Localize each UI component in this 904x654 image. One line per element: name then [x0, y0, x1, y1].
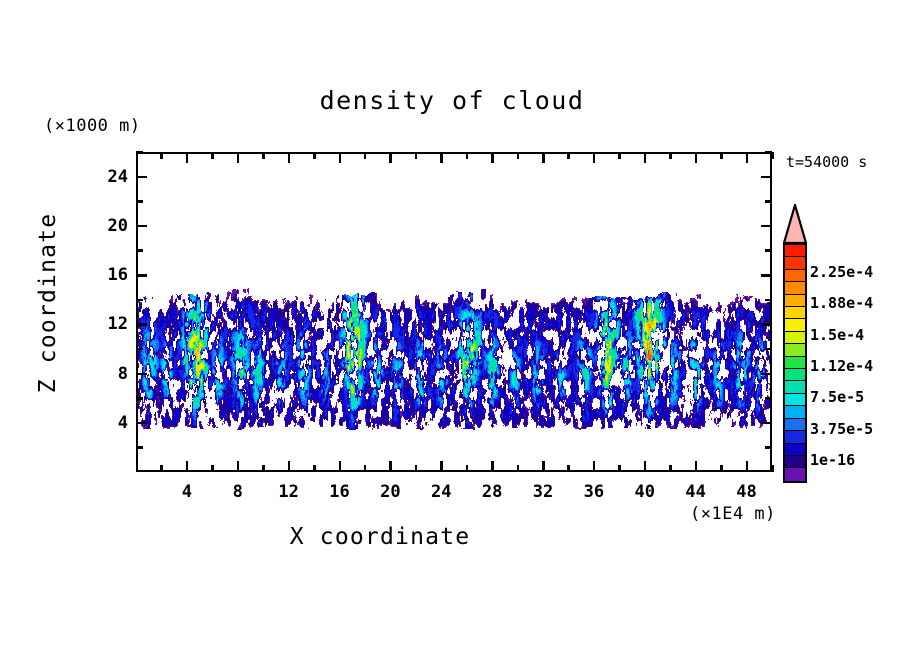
y-tick-label: 8 — [88, 366, 128, 383]
y-tick-label: 16 — [88, 267, 128, 284]
colorbar-band — [785, 357, 805, 369]
x-tick-mark — [644, 461, 647, 472]
x-minor-tick — [364, 152, 367, 159]
colorbar-band — [785, 419, 805, 431]
y-tick-mark — [136, 176, 147, 179]
colorbar-tick-label: 1e-16 — [810, 453, 855, 468]
x-minor-tick — [313, 152, 316, 159]
x-tick-label: 24 — [421, 484, 461, 501]
page-title: density of cloud — [0, 86, 904, 115]
x-minor-tick — [466, 465, 469, 472]
colorbar-band-stack — [783, 243, 807, 483]
time-annotation: t=54000 s — [786, 153, 867, 171]
x-tick-mark — [491, 461, 494, 472]
colorbar-band — [785, 295, 805, 307]
colorbar-tick-label: 1.88e-4 — [810, 296, 873, 311]
colorbar-band — [785, 245, 805, 257]
x-minor-tick — [211, 152, 214, 159]
x-minor-tick — [567, 152, 570, 159]
colorbar-band — [785, 394, 805, 406]
x-tick-label: 28 — [472, 484, 512, 501]
x-minor-tick — [669, 465, 672, 472]
colorbar-band — [785, 456, 805, 468]
x-minor-tick — [160, 465, 163, 472]
x-tick-mark — [237, 461, 240, 472]
x-minor-tick — [669, 152, 672, 159]
colorbar-band — [785, 431, 805, 443]
x-tick-label: 16 — [320, 484, 360, 501]
x-tick-mark — [389, 461, 392, 472]
y-minor-tick — [765, 200, 772, 203]
colorbar-tick-label: 2.25e-4 — [810, 265, 873, 280]
y-tick-label: 12 — [88, 316, 128, 333]
y-tick-mark — [761, 323, 772, 326]
x-minor-tick — [517, 465, 520, 472]
colorbar-band — [785, 307, 805, 319]
colorbar-tick-label: 1.5e-4 — [810, 328, 864, 343]
colorbar-tick-label: 1.12e-4 — [810, 359, 873, 374]
colorbar-band — [785, 282, 805, 294]
colorbar-tick-label: 3.75e-5 — [810, 422, 873, 437]
y-minor-tick — [136, 151, 143, 154]
y-minor-tick — [136, 200, 143, 203]
figure-canvas: density of cloud (×1000 m) t=54000 s 242… — [0, 0, 904, 654]
x-tick-label: 12 — [269, 484, 309, 501]
y-minor-tick — [136, 299, 143, 302]
y-minor-tick — [765, 249, 772, 252]
y-axis-label: Z coordinate — [35, 193, 61, 413]
x-tick-mark — [288, 152, 291, 163]
y-minor-tick — [765, 397, 772, 400]
colorbar-band — [785, 369, 805, 381]
density-heatmap — [138, 154, 770, 470]
x-minor-tick — [618, 465, 621, 472]
x-tick-label: 8 — [218, 484, 258, 501]
colorbar-band — [785, 257, 805, 269]
x-tick-mark — [491, 152, 494, 163]
y-tick-mark — [136, 323, 147, 326]
x-axis-unit-label: (×1E4 m) — [690, 504, 776, 524]
x-minor-tick — [466, 152, 469, 159]
x-minor-tick — [771, 465, 774, 472]
x-tick-mark — [339, 461, 342, 472]
y-tick-mark — [761, 422, 772, 425]
x-tick-mark — [542, 461, 545, 472]
x-minor-tick — [364, 465, 367, 472]
y-minor-tick — [765, 348, 772, 351]
x-tick-mark — [186, 152, 189, 163]
colorbar-band — [785, 270, 805, 282]
y-minor-tick — [136, 397, 143, 400]
x-axis-label: X coordinate — [0, 524, 760, 550]
colorbar-band — [785, 319, 805, 331]
y-minor-tick — [765, 299, 772, 302]
x-minor-tick — [262, 465, 265, 472]
x-tick-mark — [288, 461, 291, 472]
x-minor-tick — [313, 465, 316, 472]
x-tick-mark — [389, 152, 392, 163]
x-tick-mark — [339, 152, 342, 163]
x-tick-label: 32 — [523, 484, 563, 501]
y-minor-tick — [136, 348, 143, 351]
colorbar-tick-label: 7.5e-5 — [810, 390, 864, 405]
y-tick-mark — [136, 422, 147, 425]
x-tick-mark — [695, 152, 698, 163]
y-tick-label: 24 — [88, 169, 128, 186]
y-minor-tick — [136, 249, 143, 252]
y-tick-label: 20 — [88, 218, 128, 235]
y-tick-label: 4 — [88, 415, 128, 432]
x-minor-tick — [720, 465, 723, 472]
y-minor-tick — [136, 446, 143, 449]
colorbar-band — [785, 444, 805, 456]
x-tick-label: 48 — [727, 484, 767, 501]
y-tick-mark — [136, 373, 147, 376]
y-tick-mark — [136, 225, 147, 228]
x-minor-tick — [720, 152, 723, 159]
x-tick-label: 4 — [167, 484, 207, 501]
x-tick-mark — [440, 461, 443, 472]
y-tick-mark — [761, 176, 772, 179]
colorbar-band — [785, 381, 805, 393]
y-tick-mark — [136, 274, 147, 277]
x-tick-mark — [542, 152, 545, 163]
x-tick-mark — [186, 461, 189, 472]
x-minor-tick — [160, 152, 163, 159]
colorbar-band — [785, 344, 805, 356]
x-tick-mark — [746, 461, 749, 472]
x-minor-tick — [618, 152, 621, 159]
x-minor-tick — [517, 152, 520, 159]
x-minor-tick — [567, 465, 570, 472]
y-tick-mark — [761, 225, 772, 228]
y-tick-mark — [761, 274, 772, 277]
colorbar-band — [785, 406, 805, 418]
x-minor-tick — [415, 465, 418, 472]
x-tick-label: 44 — [676, 484, 716, 501]
x-tick-label: 40 — [625, 484, 665, 501]
y-tick-mark — [761, 373, 772, 376]
x-minor-tick — [415, 152, 418, 159]
colorbar-band — [785, 468, 805, 480]
x-tick-mark — [593, 152, 596, 163]
x-minor-tick — [262, 152, 265, 159]
y-axis-unit-label: (×1000 m) — [44, 116, 141, 136]
x-tick-mark — [440, 152, 443, 163]
x-tick-mark — [644, 152, 647, 163]
x-tick-mark — [593, 461, 596, 472]
colorbar-band — [785, 332, 805, 344]
x-tick-mark — [237, 152, 240, 163]
x-tick-label: 36 — [574, 484, 614, 501]
y-minor-tick — [765, 446, 772, 449]
colorbar-overflow-arrow — [783, 204, 807, 244]
x-minor-tick — [771, 152, 774, 159]
x-minor-tick — [211, 465, 214, 472]
x-tick-label: 20 — [370, 484, 410, 501]
x-tick-mark — [695, 461, 698, 472]
x-tick-mark — [746, 152, 749, 163]
